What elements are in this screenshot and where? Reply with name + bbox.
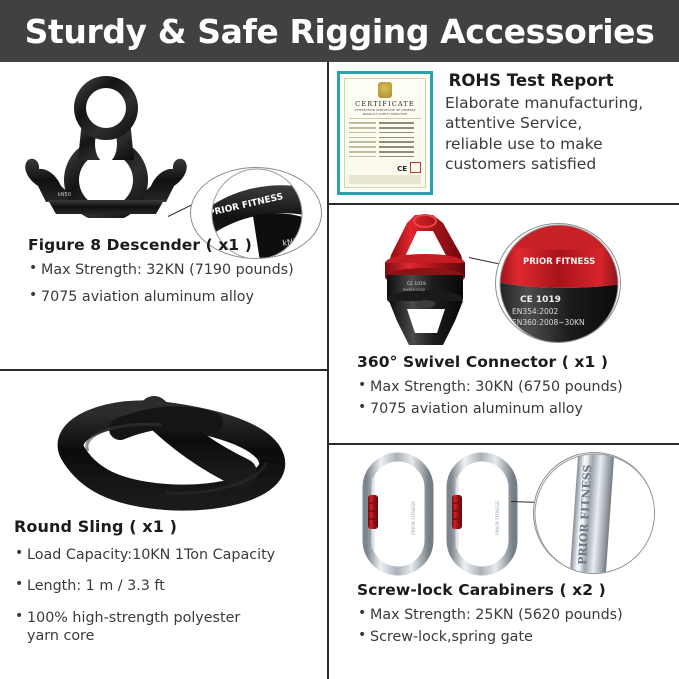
figure8-bullet-1: 7075 aviation aluminum alloy	[28, 288, 320, 306]
swivel-cert-line1: CE 1019	[520, 295, 561, 305]
svg-text:PRIOR FITNESS: PRIOR FITNESS	[411, 501, 417, 535]
carabiner-bullet-1: Screw-lock,spring gate	[357, 628, 675, 646]
rohs-title: ROHS Test Report	[445, 71, 643, 90]
swivel-cert-line2: EN354:2002	[512, 307, 559, 316]
sling-bullet-2: 100% high-strength polyester yarn core	[14, 609, 264, 646]
sling-title: Round Sling ( x1 )	[14, 517, 328, 536]
certificate-seal-icon	[378, 82, 392, 98]
panel-screwlock-carabiners: PRIOR FITNESS PRIOR FITNESS	[329, 445, 679, 679]
certificate-thumbnail: CERTIFICATE ATTESTATION CERTIFICATE OF G…	[337, 71, 433, 195]
sling-text-block: Round Sling ( x1 ) Load Capacity:10KN 1T…	[14, 517, 328, 654]
sling-bullet-1: Length: 1 m / 3.3 ft	[14, 577, 328, 595]
svg-text:kN50: kN50	[58, 192, 71, 198]
sling-product-image	[16, 377, 316, 517]
figure8-title: Figure 8 Descender ( x1 )	[28, 236, 320, 254]
swivel-text-block: 360° Swivel Connector ( x1 ) Max Strengt…	[357, 353, 675, 423]
figure8-text-block: Figure 8 Descender ( x1 ) Max Strength: …	[28, 236, 320, 316]
swivel-bullet-0: Max Strength: 30KN (6750 pounds)	[357, 378, 675, 396]
figure8-bullet-list: Max Strength: 32KN (7190 pounds) 7075 av…	[28, 261, 320, 307]
rohs-text-block: ROHS Test Report Elaborate manufacturing…	[445, 71, 643, 175]
rohs-line-0: Elaborate manufacturing,	[445, 93, 643, 113]
swivel-bullet-1: 7075 aviation aluminum alloy	[357, 400, 675, 418]
rohs-line-1: attentive Service,	[445, 113, 643, 133]
svg-text:PRIOR FITNESS: PRIOR FITNESS	[495, 501, 501, 535]
svg-text:EN354:2002: EN354:2002	[403, 288, 425, 292]
infographic-page: Sturdy & Safe Rigging Accessories	[0, 0, 679, 679]
carabiner-product-image: PRIOR FITNESS PRIOR FITNESS	[353, 449, 543, 579]
carabiner-callout-circle: PRIOR FITNESS	[533, 452, 655, 574]
svg-text:CE 1019: CE 1019	[407, 281, 426, 287]
certificate-heading: CERTIFICATE	[355, 100, 415, 108]
carabiner-text-block: Screw-lock Carabiners ( x2 ) Max Strengt…	[357, 581, 675, 651]
sling-bullet-list: Load Capacity:10KN 1Ton Capacity Length:…	[14, 546, 328, 645]
swivel-brand-text: PRIOR FITNESS	[523, 257, 595, 267]
carabiner-bullet-0: Max Strength: 25KN (5620 pounds)	[357, 606, 675, 624]
panel-swivel-connector: CE 1019 EN354:2002	[329, 205, 679, 443]
figure8-bullet-0: Max Strength: 32KN (7190 pounds)	[28, 261, 320, 279]
rohs-line-3: customers satisfied	[445, 154, 643, 174]
header-bar: Sturdy & Safe Rigging Accessories	[0, 0, 679, 62]
swivel-bullet-list: Max Strength: 30KN (6750 pounds) 7075 av…	[357, 378, 675, 419]
sling-bullet-0: Load Capacity:10KN 1Ton Capacity	[14, 546, 328, 564]
swivel-callout-circle: PRIOR FITNESS CE 1019 EN354:2002 EN360:2…	[495, 223, 621, 343]
rohs-line-2: reliable use to make	[445, 134, 643, 154]
swivel-title: 360° Swivel Connector ( x1 )	[357, 353, 675, 371]
carabiner-bullet-list: Max Strength: 25KN (5620 pounds) Screw-l…	[357, 606, 675, 647]
carabiner-title: Screw-lock Carabiners ( x2 )	[357, 581, 675, 599]
page-title: Sturdy & Safe Rigging Accessories	[25, 12, 655, 51]
certificate-ce-mark: CE	[397, 165, 407, 173]
swivel-cert-line3: EN360:2008~30KN	[512, 318, 585, 327]
certificate-ce-logo-icon	[410, 162, 421, 173]
panel-figure8-descender: kN50 P	[0, 64, 327, 369]
panel-rohs-test-report: CERTIFICATE ATTESTATION CERTIFICATE OF G…	[329, 64, 679, 203]
figure8-product-image: kN50	[6, 68, 206, 218]
certificate-subheading: ATTESTATION CERTIFICATE OF GENERAL PRODU…	[349, 109, 421, 116]
panel-round-sling: Round Sling ( x1 ) Load Capacity:10KN 1T…	[0, 371, 327, 679]
